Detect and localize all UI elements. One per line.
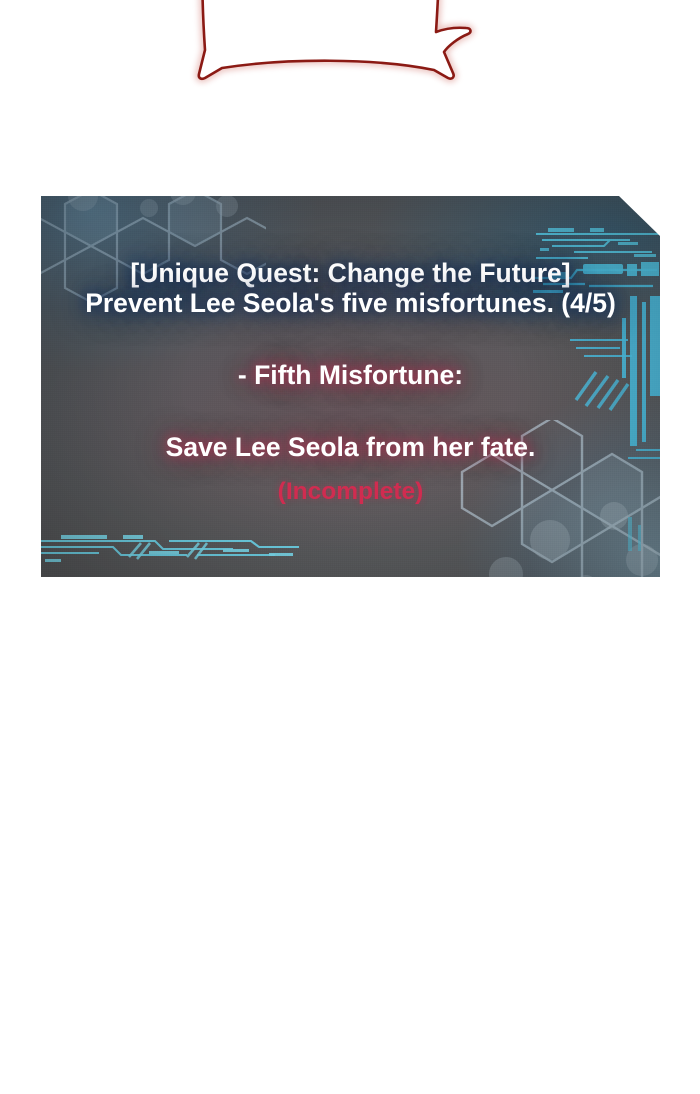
- circuit-accent-bottom-right: [588, 517, 648, 577]
- circuit-traces-top-right: [534, 224, 660, 264]
- quest-window-panel: [Unique Quest: Change the Future] Preven…: [41, 196, 660, 577]
- quest-title-line-2: Prevent Lee Seola's five misfortunes. (4…: [41, 288, 660, 318]
- speech-bubble-shape: [196, 0, 478, 144]
- quest-status-badge: (Incomplete): [41, 478, 660, 506]
- quest-objective: Save Lee Seola from her fate.: [41, 432, 660, 462]
- panel-vignette: [41, 196, 660, 577]
- circuit-bars-right-edge: [570, 296, 660, 476]
- quest-title-line-1: [Unique Quest: Change the Future]: [41, 258, 660, 288]
- hexagon-cluster-top-left: [41, 196, 266, 342]
- speech-bubble: SEOLA?! SEOLA?!: [196, 0, 478, 144]
- quest-text-block: [Unique Quest: Change the Future] Preven…: [41, 196, 660, 577]
- quest-subhead: - Fifth Misfortune:: [41, 360, 660, 390]
- circuit-traces-right-upper: [527, 256, 660, 312]
- circuit-traces-bottom-left: [41, 531, 307, 567]
- hexagon-cluster-bottom-right: [446, 420, 660, 577]
- panel-noise-overlay: [41, 196, 660, 577]
